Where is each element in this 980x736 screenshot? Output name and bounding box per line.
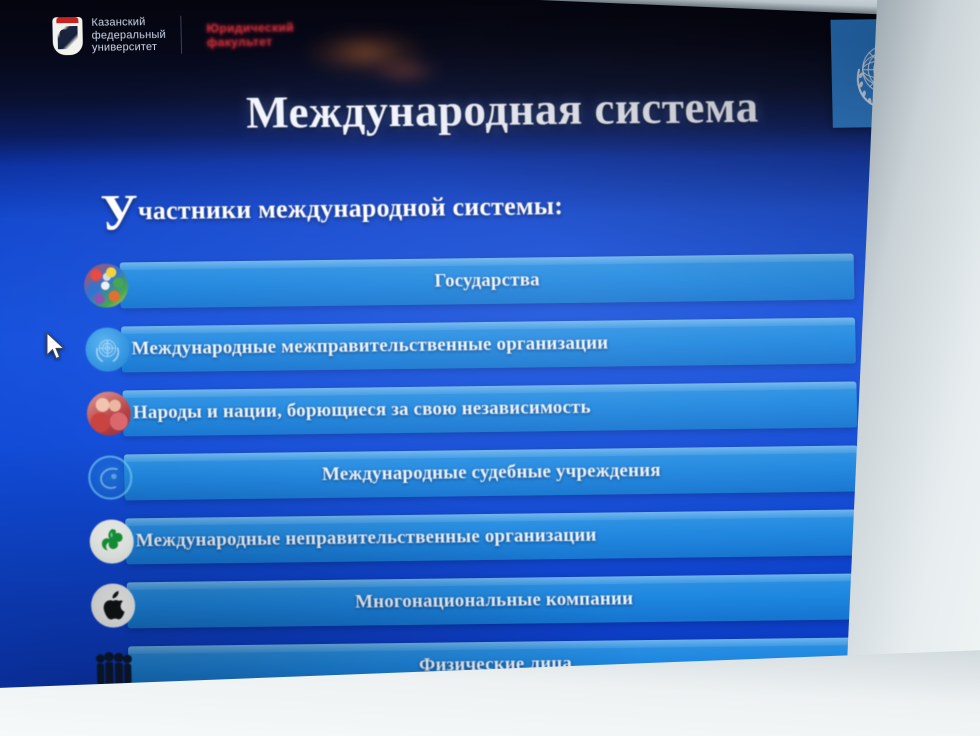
subtitle-dropcap: У bbox=[100, 185, 139, 241]
list-item-label: Международные неправительственные органи… bbox=[135, 510, 850, 565]
slide-surface: Казанский федеральный университет Юридич… bbox=[0, 0, 980, 736]
slide-subtitle: Участники международной системы: bbox=[100, 183, 564, 240]
presentation-slide: Казанский федеральный университет Юридич… bbox=[0, 0, 980, 736]
list-item[interactable]: Международные неправительственные органи… bbox=[89, 509, 860, 566]
un-logo-icon bbox=[85, 327, 130, 372]
photographed-presentation-screen: Казанский федеральный университет Юридич… bbox=[0, 0, 980, 736]
header-divider bbox=[180, 16, 182, 54]
list-item[interactable]: Государства bbox=[84, 254, 855, 311]
world-flags-icon bbox=[84, 263, 129, 308]
list-item-label: Международные судебные учреждения bbox=[134, 446, 849, 501]
list-item-label: Народы и нации, борющиеся за свою незави… bbox=[132, 382, 847, 437]
list-item-label: Международные межправительственные орган… bbox=[131, 318, 846, 373]
university-name: Казанский федеральный университет bbox=[91, 16, 166, 54]
list-item[interactable]: Международные судебные учреждения bbox=[88, 445, 859, 502]
participants-list: Государства bbox=[84, 254, 864, 711]
subtitle-text: частники международной системы: bbox=[138, 191, 564, 225]
list-item[interactable]: Народы и нации, борющиеся за свою незави… bbox=[86, 381, 857, 438]
list-item[interactable]: Многонациональные компании bbox=[91, 573, 862, 630]
faculty-name-line2: факультет bbox=[207, 34, 295, 49]
mouse-pointer-icon bbox=[45, 332, 67, 362]
kfu-branding: Казанский федеральный университет bbox=[52, 16, 166, 55]
university-name-line3: университет bbox=[92, 41, 166, 54]
list-item-label: Многонациональные компании bbox=[137, 574, 852, 629]
faculty-name-line1: Юридический bbox=[206, 20, 294, 35]
slide-header: Казанский федеральный университет Юридич… bbox=[0, 0, 980, 104]
kfu-shield-logo-icon bbox=[52, 17, 83, 55]
court-icon bbox=[88, 455, 133, 500]
list-item-label: Государства bbox=[130, 254, 845, 309]
faculty-name: Юридический факультет bbox=[206, 20, 294, 49]
list-item[interactable]: Международные межправительственные орган… bbox=[85, 318, 856, 375]
university-name-line1: Казанский bbox=[91, 16, 165, 29]
